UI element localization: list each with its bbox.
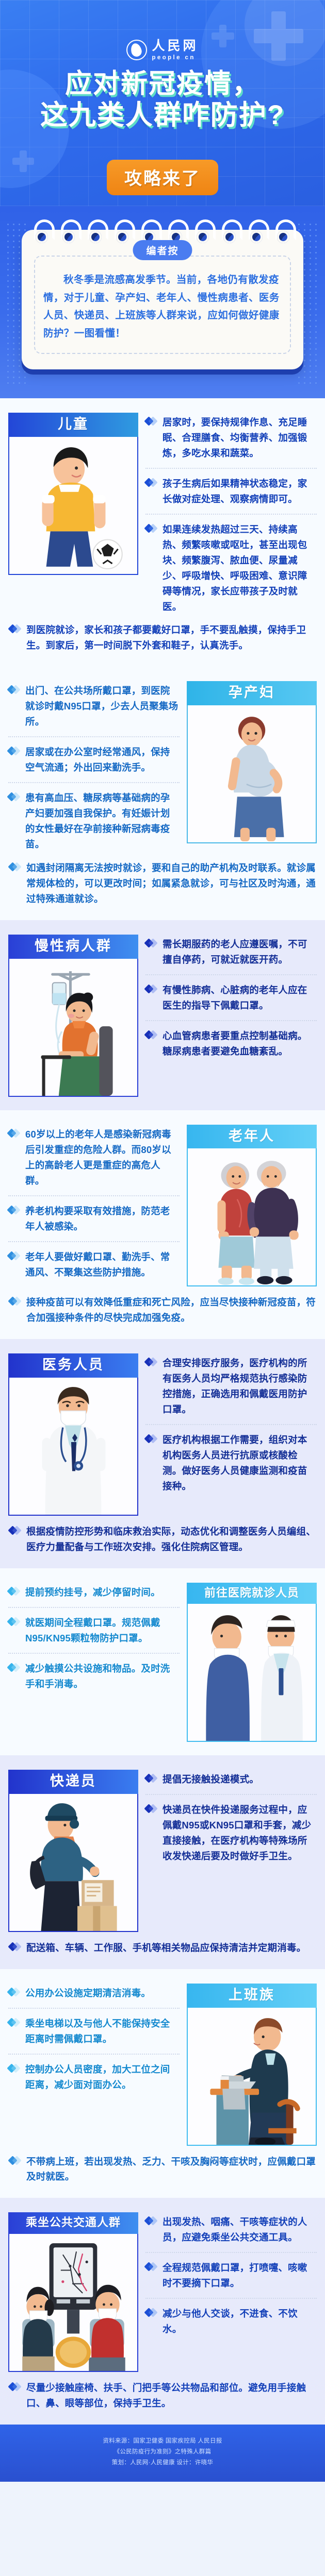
hero-title-line-2: 这九类人群咋防护? xyxy=(0,99,325,131)
diamond-bullet-icon xyxy=(145,479,159,487)
diamond-bullet-icon xyxy=(9,1527,23,1535)
section-public-transport: 乘坐公共交通人群 xyxy=(0,2198,325,2424)
illustration-courier-with-parcels xyxy=(8,1794,138,1932)
diamond-bullet-icon xyxy=(145,418,159,426)
persona-title-medical-staff: 医务人员 xyxy=(8,1353,138,1378)
list-item: 尽量少接触座椅、扶手、门把手等公共物品和部位。避免用手接触口、鼻、眼等部位，保持… xyxy=(9,2380,316,2411)
bullet-text: 需长期服药的老人应遵医嘱，不可擅自停药，可就近就医开药。 xyxy=(163,937,317,968)
illustration-boy-with-soccer-ball xyxy=(8,437,138,575)
notepad-card: 编者按 秋冬季是流感高发季节。当前，各地仍有散发疫情，对于儿童、孕产妇、老年人、… xyxy=(22,230,303,369)
bullet-text: 提前预约挂号，减少停留时间。 xyxy=(25,1585,160,1600)
bullet-text: 控制办公人员密度，加大工位之间距离，减少面对面办公。 xyxy=(25,2062,180,2093)
list-item: 减少触摸公共设施和物品。及时洗手和手消毒。 xyxy=(8,1653,180,1692)
notepad-ring-icon xyxy=(194,219,212,246)
bullet-text: 患有高血压、糖尿病等基础病的孕产妇要加强自我保护。有妊娠计划的女性最好在孕前接种… xyxy=(25,790,180,852)
illustration-patient-and-nurse xyxy=(187,1604,317,1742)
bullet-list-couriers-full: 配送箱、车辆、工作服、手机等相关物品应保持清洁并定期消毒。 xyxy=(0,1940,325,1956)
list-item: 孩子生病后如果精神状态稳定，家长做对症处理、观察病情即可。 xyxy=(145,468,317,507)
list-item: 公用办公设施定期清洁消毒。 xyxy=(8,1986,180,2001)
brand-name-en: people cn xyxy=(152,55,195,61)
list-item: 乘坐电梯以及与他人不能保持安全距离时需佩戴口罩。 xyxy=(8,2008,180,2047)
bullet-text: 合理安排医疗服务，医疗机构的所有医务人员均严格规范执行感染防控措施，正确选用和佩… xyxy=(163,1355,317,1417)
bullet-text: 全程规范佩戴口罩，打喷嚏、咳嗽时不要摘下口罩。 xyxy=(163,2260,317,2291)
notepad-ring-icon xyxy=(113,219,131,246)
notepad-ring-icon xyxy=(33,219,51,246)
illustration-elderly-couple xyxy=(187,1148,317,1286)
bullet-text: 减少与他人交谈，不进食、不饮水。 xyxy=(163,2306,317,2337)
bullet-list-pregnant: 出门、在公共场所戴口罩，到医院就诊时戴N95口罩，少去人员聚集场所。 居家或在办… xyxy=(8,681,180,852)
infographic-page: 人民网 people cn 应对新冠疫情， 这九类人群咋防护? 攻略来了 xyxy=(0,0,325,2482)
list-item: 养老机构要采取有效措施，防范老年人被感染。 xyxy=(8,1195,180,1234)
section-elderly: 老年人 xyxy=(0,1110,325,1340)
persona-title-office-workers: 上班族 xyxy=(187,1984,317,2008)
bullet-list-medical-staff-full: 根据疫情防控形势和临床救治实际，动态优化和调整医务人员编组、医疗力量配备与工作班… xyxy=(0,1524,325,1555)
editor-note-chip: 编者按 xyxy=(133,240,192,260)
bullet-list-hospital-visitors: 提前预约挂号，减少停留时间。 就医期间全程戴口罩。规范佩戴N95/KN95颗粒物… xyxy=(8,1583,180,1692)
bullet-list-office-workers-full: 不带病上班，若出现发热、乏力、干咳及胸闷等症状时，应佩戴口罩及时就医。 xyxy=(0,2154,325,2185)
bullet-list-pregnant-full: 如遇封闭隔离无法按时就诊，要和自己的助产机构及时联系。就诊属常规体检的，可以更改… xyxy=(0,860,325,907)
bullet-text: 有慢性肺病、心脏病的老年人应在医生的指导下佩戴口罩。 xyxy=(163,982,317,1013)
bullet-text: 快递员在快件投递服务过程中，应佩戴N95或KN95口罩和手套，减少直接接触，在医… xyxy=(163,1802,317,1864)
list-item: 心血管病患者要重点控制基础病。糖尿病患者要避免血糖紊乱。 xyxy=(145,1020,317,1059)
list-item: 根据疫情防控形势和临床救治实际，动态优化和调整医务人员编组、医疗力量配备与工作班… xyxy=(9,1524,316,1555)
list-item: 如遇封闭隔离无法按时就诊，要和自己的助产机构及时联系。就诊属常规体检的，可以更改… xyxy=(9,860,316,907)
bullet-text: 60岁以上的老年人是感染新冠病毒后引发重症的危险人群。而80岁以上的高龄老人更是… xyxy=(25,1127,180,1189)
illustration-man-at-desk-with-laptop xyxy=(187,2008,317,2146)
bullet-text: 出现发热、咽痛、干咳等症状的人员，应避免乘坐公共交通工具。 xyxy=(163,2214,317,2245)
bullet-text: 提倡无接触投递模式。 xyxy=(163,1772,259,1787)
list-item: 到医院就诊，家长和孩子都要戴好口罩，手不要乱触摸，保持手卫生。到家后，第一时间脱… xyxy=(9,622,316,653)
bullet-text: 居家或在办公室时经常通风，保持空气流通；外出回来勤洗手。 xyxy=(25,744,180,775)
footer-credit-line: 策划：人民网·人民健康 设计：许晓华 xyxy=(9,2458,316,2468)
diamond-bullet-icon xyxy=(8,1989,22,1997)
hero-banner: 人民网 people cn 应对新冠疫情， 这九类人群咋防护? 攻略来了 xyxy=(0,0,325,206)
page-title: 应对新冠疫情， 这九类人群咋防护? xyxy=(0,69,325,131)
brand-name-cn: 人民网 xyxy=(152,39,198,54)
illustration-woman-on-iv-drip xyxy=(8,959,138,1097)
persona-card-couriers: 快递员 xyxy=(8,1770,138,1932)
illustration-pregnant-woman xyxy=(187,705,317,843)
diamond-bullet-icon xyxy=(8,748,22,756)
diamond-bullet-icon xyxy=(8,1664,22,1672)
diamond-bullet-icon xyxy=(145,525,159,533)
persona-card-medical-staff: 医务人员 xyxy=(8,1353,138,1516)
notepad-ring-icon xyxy=(221,219,238,246)
section-office-workers: 上班族 xyxy=(0,1969,325,2198)
bullet-text: 到医院就诊，家长和孩子都要戴好口罩，手不要乱触摸，保持手卫生。到家后，第一时间脱… xyxy=(26,622,316,653)
persona-title-chronic: 慢性病人群 xyxy=(8,935,138,959)
notepad-ring-icon xyxy=(87,219,104,246)
section-medical-staff: 医务人员 xyxy=(0,1339,325,1568)
diamond-bullet-icon xyxy=(145,940,159,948)
bullet-text: 心血管病患者要重点控制基础病。糖尿病患者要避免血糖紊乱。 xyxy=(163,1028,317,1059)
list-item: 60岁以上的老年人是感染新冠病毒后引发重症的危险人群。而80岁以上的高龄老人更是… xyxy=(8,1127,180,1189)
list-item: 合理安排医疗服务，医疗机构的所有医务人员均严格规范执行感染防控措施，正确选用和佩… xyxy=(145,1355,317,1417)
diamond-bullet-icon xyxy=(9,2157,23,2165)
list-item: 控制办公人员密度，加大工位之间距离，减少面对面办公。 xyxy=(8,2054,180,2093)
bullet-text: 如果连续发热超过三天、持续高热、频繁咳嗽或呕吐，甚至出现包块、频繁腹泻、脓血便、… xyxy=(163,522,317,615)
bullet-text: 老年人要做好戴口罩、勤洗手、常通风、不聚集这些防护措施。 xyxy=(25,1249,180,1280)
diamond-bullet-icon xyxy=(145,1775,159,1783)
editor-note-text: 秋冬季是流感高发季节。当前，各地仍有散发疫情，对于儿童、孕产妇、老年人、慢性病患… xyxy=(43,271,282,343)
bullet-text: 根据疫情防控形势和临床救治实际，动态优化和调整医务人员编组、医疗力量配备与工作班… xyxy=(26,1524,316,1555)
diamond-bullet-icon xyxy=(145,1031,159,1040)
list-item: 如果连续发热超过三天、持续高热、频繁咳嗽或呕吐，甚至出现包块、频繁腹泻、脓血便、… xyxy=(145,514,317,615)
diamond-bullet-icon xyxy=(145,1435,159,1444)
list-item: 居家时，要保持规律作息、充足睡眠、合理膳食、均衡营养、加强锻炼，多吃水果和蔬菜。 xyxy=(145,415,317,461)
list-item: 出现发热、咽痛、干咳等症状的人员，应避免乘坐公共交通工具。 xyxy=(145,2214,317,2245)
persona-card-office-workers: 上班族 xyxy=(187,1984,317,2146)
section-hospital-visitors: 前往医院就诊人员 xyxy=(0,1568,325,1755)
persona-card-pregnant: 孕产妇 xyxy=(187,681,317,843)
persona-card-children: 儿童 xyxy=(8,413,138,575)
bullet-text: 出门、在公共场所戴口罩，到医院就诊时戴N95口罩，少去人员聚集场所。 xyxy=(25,683,180,730)
diamond-bullet-icon xyxy=(145,2309,159,2317)
footer-credits: 资料来源：国家卫健委 国家疾控局 人民日报 《公民防疫行为准则》之特殊人群篇 策… xyxy=(0,2425,325,2482)
persona-title-elderly: 老年人 xyxy=(187,1125,317,1149)
diamond-bullet-icon xyxy=(8,1618,22,1626)
bullet-text: 就医期间全程戴口罩。规范佩戴N95/KN95颗粒物防护口罩。 xyxy=(25,1615,180,1646)
people-cn-logo-icon xyxy=(126,40,147,60)
bullet-text: 养老机构要采取有效措施，防范老年人被感染。 xyxy=(25,1204,180,1234)
diamond-bullet-icon xyxy=(145,1805,159,1814)
diamond-bullet-icon xyxy=(9,1943,23,1952)
bullet-list-public-transport-full: 尽量少接触座椅、扶手、门把手等公共物品和部位。避免用手接触口、鼻、眼等部位，保持… xyxy=(0,2380,325,2411)
editor-note-box: 秋冬季是流感高发季节。当前，各地仍有散发疫情，对于儿童、孕产妇、老年人、慢性病患… xyxy=(34,256,291,354)
brand-logo: 人民网 people cn xyxy=(0,39,325,61)
section-couriers: 快递员 xyxy=(0,1755,325,1969)
hero-title-line-1: 应对新冠疫情， xyxy=(0,69,325,99)
diamond-bullet-icon xyxy=(145,2263,159,2272)
bullet-list-office-workers: 公用办公设施定期清洁消毒。 乘坐电梯以及与他人不能保持安全距离时需佩戴口罩。 控… xyxy=(8,1984,180,2093)
list-item: 提倡无接触投递模式。 xyxy=(145,1772,317,1787)
list-item: 快递员在快件投递服务过程中，应佩戴N95或KN95口罩和手套，减少直接接触，在医… xyxy=(145,1794,317,1864)
illustration-two-passengers-with-masks xyxy=(8,2234,138,2372)
diamond-bullet-icon xyxy=(9,625,23,634)
bullet-list-medical-staff: 合理安排医疗服务，医疗机构的所有医务人员均严格规范执行感染防控措施，正确选用和佩… xyxy=(145,1353,317,1494)
diamond-bullet-icon xyxy=(9,2383,23,2392)
diamond-bullet-icon xyxy=(8,1130,22,1138)
bullet-text: 孩子生病后如果精神状态稳定，家长做对症处理、观察病情即可。 xyxy=(163,476,317,507)
bullet-text: 接种疫苗可以有效降低重症和死亡风险，应当尽快接种新冠疫苗，符合加强接种条件的尽快… xyxy=(26,1295,316,1326)
diamond-bullet-icon xyxy=(8,1252,22,1261)
diamond-bullet-icon xyxy=(145,986,159,994)
notepad-ring-icon xyxy=(274,219,292,246)
diamond-bullet-icon xyxy=(8,793,22,802)
bullet-text: 如遇封闭隔离无法按时就诊，要和自己的助产机构及时联系。就诊属常规体检的，可以更改… xyxy=(26,860,316,907)
bullet-list-chronic: 需长期服药的老人应遵医嘱，不可擅自停药，可就近就医开药。 有慢性肺病、心脏病的老… xyxy=(145,935,317,1059)
notepad-ring-icon xyxy=(60,219,77,246)
illustration-doctor-with-stethoscope xyxy=(8,1378,138,1516)
list-item: 居家或在办公室时经常通风，保持空气流通；外出回来勤洗手。 xyxy=(8,736,180,775)
persona-card-chronic: 慢性病人群 xyxy=(8,935,138,1097)
list-item: 就医期间全程戴口罩。规范佩戴N95/KN95颗粒物防护口罩。 xyxy=(8,1607,180,1646)
list-item: 减少与他人交谈，不进食、不饮水。 xyxy=(145,2298,317,2337)
bullet-text: 居家时，要保持规律作息、充足睡眠、合理膳食、均衡营养、加强锻炼，多吃水果和蔬菜。 xyxy=(163,415,317,461)
list-item: 配送箱、车辆、工作服、手机等相关物品应保持清洁并定期消毒。 xyxy=(9,1940,316,1956)
persona-card-hospital-visitors: 前往医院就诊人员 xyxy=(187,1583,317,1742)
list-item: 接种疫苗可以有效降低重症和死亡风险，应当尽快接种新冠疫苗，符合加强接种条件的尽快… xyxy=(9,1295,316,1326)
list-item: 出门、在公共场所戴口罩，到医院就诊时戴N95口罩，少去人员聚集场所。 xyxy=(8,683,180,730)
bullet-text: 减少触摸公共设施和物品。及时洗手和手消毒。 xyxy=(25,1661,180,1692)
section-pregnant: 孕产妇 xyxy=(0,667,325,920)
persona-title-public-transport: 乘坐公共交通人群 xyxy=(8,2212,138,2233)
hero-badge: 攻略来了 xyxy=(0,160,325,195)
list-item: 提前预约挂号，减少停留时间。 xyxy=(8,1585,180,1600)
bullet-list-children-full: 到医院就诊，家长和孩子都要戴好口罩，手不要乱触摸，保持手卫生。到家后，第一时间脱… xyxy=(0,622,325,653)
diamond-bullet-icon xyxy=(9,1298,23,1306)
bullet-list-elderly: 60岁以上的老年人是感染新冠病毒后引发重症的危险人群。而80岁以上的高龄老人更是… xyxy=(8,1125,180,1280)
bullet-text: 尽量少接触座椅、扶手、门把手等公共物品和部位。避免用手接触口、鼻、眼等部位，保持… xyxy=(26,2380,316,2411)
persona-title-pregnant: 孕产妇 xyxy=(187,681,317,705)
list-item: 不带病上班，若出现发热、乏力、干咳及胸闷等症状时，应佩戴口罩及时就医。 xyxy=(9,2154,316,2185)
bullet-text: 公用办公设施定期清洁消毒。 xyxy=(25,1986,151,2001)
persona-card-elderly: 老年人 xyxy=(187,1125,317,1287)
persona-title-hospital-visitors: 前往医院就诊人员 xyxy=(187,1583,317,1604)
footer-doc-line: 《公民防疫行为准则》之特殊人群篇 xyxy=(9,2447,316,2458)
section-children: 儿童 xyxy=(0,398,325,667)
bullet-list-couriers: 提倡无接触投递模式。 快递员在快件投递服务过程中，应佩戴N95或KN95口罩和手… xyxy=(145,1770,317,1864)
persona-title-children: 儿童 xyxy=(8,413,138,437)
bullet-text: 医疗机构根据工作需要，组织对本机构医务人员进行抗原或核酸检测。做好医务人员健康监… xyxy=(163,1432,317,1494)
diamond-bullet-icon xyxy=(8,1207,22,1215)
diamond-bullet-icon xyxy=(8,2019,22,2027)
diamond-bullet-icon xyxy=(9,863,23,872)
diamond-bullet-icon xyxy=(145,2217,159,2226)
bullet-list-public-transport: 出现发热、咽痛、干咳等症状的人员，应避免乘坐公共交通工具。 全程规范佩戴口罩，打… xyxy=(145,2212,317,2337)
list-item: 老年人要做好戴口罩、勤洗手、常通风、不聚集这些防护措施。 xyxy=(8,1241,180,1280)
bullet-text: 乘坐电梯以及与他人不能保持安全距离时需佩戴口罩。 xyxy=(25,2016,180,2047)
diamond-bullet-icon xyxy=(8,686,22,694)
section-chronic: 慢性病人群 xyxy=(0,920,325,1110)
bullet-text: 配送箱、车辆、工作服、手机等相关物品应保持清洁并定期消毒。 xyxy=(26,1940,306,1956)
hero-badge-label: 攻略来了 xyxy=(107,160,218,195)
list-item: 医疗机构根据工作需要，组织对本机构医务人员进行抗原或核酸检测。做好医务人员健康监… xyxy=(145,1424,317,1494)
list-item: 需长期服药的老人应遵医嘱，不可擅自停药，可就近就医开药。 xyxy=(145,937,317,968)
diamond-bullet-icon xyxy=(8,1588,22,1596)
list-item: 全程规范佩戴口罩，打喷嚏、咳嗽时不要摘下口罩。 xyxy=(145,2252,317,2291)
diamond-bullet-icon xyxy=(8,2065,22,2073)
list-item: 有慢性肺病、心脏病的老年人应在医生的指导下佩戴口罩。 xyxy=(145,974,317,1013)
bullet-text: 不带病上班，若出现发热、乏力、干咳及胸闷等症状时，应佩戴口罩及时就医。 xyxy=(26,2154,316,2185)
bullet-list-children: 居家时，要保持规律作息、充足睡眠、合理膳食、均衡营养、加强锻炼，多吃水果和蔬菜。… xyxy=(145,413,317,615)
persona-card-public-transport: 乘坐公共交通人群 xyxy=(8,2212,138,2371)
diamond-bullet-icon xyxy=(145,1359,159,1367)
footer-source-line: 资料来源：国家卫健委 国家疾控局 人民日报 xyxy=(9,2436,316,2447)
persona-title-couriers: 快递员 xyxy=(8,1770,138,1794)
list-item: 患有高血压、糖尿病等基础病的孕产妇要加强自我保护。有妊娠计划的女性最好在孕前接种… xyxy=(8,782,180,852)
notepad-ring-icon xyxy=(248,219,265,246)
bullet-list-elderly-full: 接种疫苗可以有效降低重症和死亡风险，应当尽快接种新冠疫苗，符合加强接种条件的尽快… xyxy=(0,1295,325,1326)
editor-note-section: 编者按 秋冬季是流感高发季节。当前，各地仍有散发疫情，对于儿童、孕产妇、老年人、… xyxy=(0,206,325,398)
